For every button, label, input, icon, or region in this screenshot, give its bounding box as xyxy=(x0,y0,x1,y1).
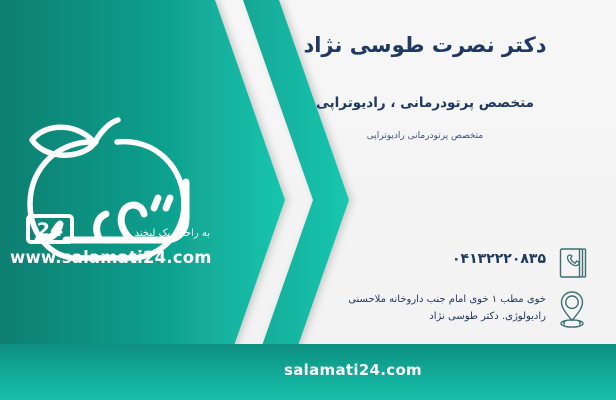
map-pin-icon xyxy=(552,288,592,330)
svg-text:24: 24 xyxy=(37,219,63,241)
footer-site[interactable]: salamati24.com xyxy=(0,361,616,379)
address-line-2: رادیولوژی. دکتر طوسی نژاد xyxy=(296,309,546,326)
phone-number: ۰۴۱۳۲۲۲۰۸۳۵ xyxy=(326,251,546,267)
logo-tagline: به راحتی یک لبخند xyxy=(100,228,210,239)
footer-banner: salamati24.com xyxy=(0,344,616,400)
logo: 24 xyxy=(14,112,224,267)
address: خوی مطب ۱ خوی امام جنب داروخانه ملاحسنی … xyxy=(296,292,546,325)
phone-book-icon xyxy=(556,246,590,280)
doctor-specialty-small: متخصص پرتودرمانی رادیوتراپی xyxy=(260,131,590,141)
address-line-1: خوی مطب ۱ خوی امام جنب داروخانه ملاحسنی xyxy=(296,292,546,309)
apple-outline-icon: 24 xyxy=(14,112,224,267)
doctor-name: دکتر نصرت طوسی نژاد xyxy=(260,33,590,57)
doctor-specialty: متخصص پرتودرمانی ، رادیوتراپی xyxy=(260,95,590,111)
business-card: 24 به راحتی یک لبخند www.salamati24.com … xyxy=(0,0,616,400)
logo-url: www.salamati24.com xyxy=(10,248,210,267)
